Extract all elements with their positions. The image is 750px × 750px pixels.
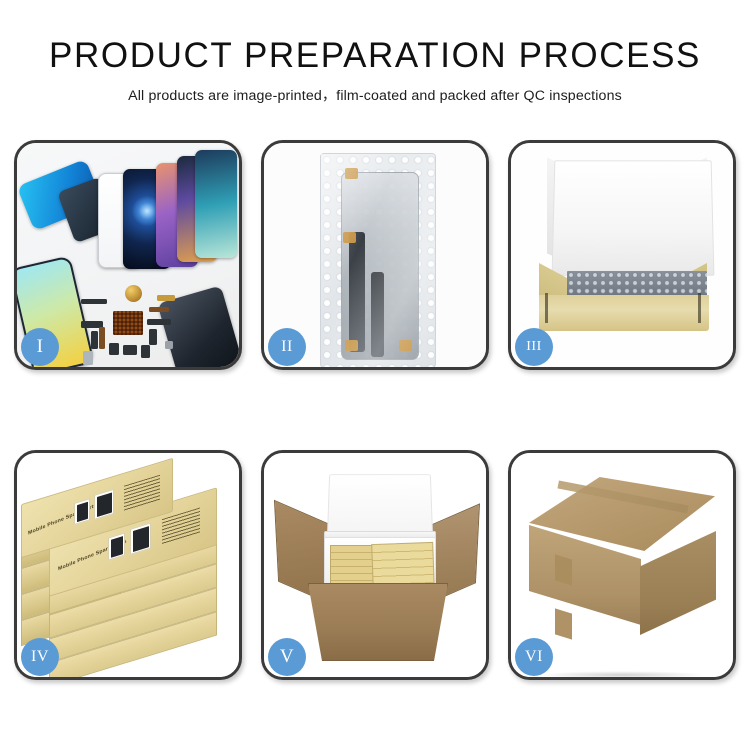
carton-tape-lower [555, 608, 572, 639]
component-flex-1 [99, 327, 105, 349]
step-badge-4: IV [21, 638, 59, 676]
step-badge-3: III [515, 328, 553, 366]
step-panel-6: VI [508, 450, 736, 680]
component-bar-3 [91, 331, 98, 349]
tape-piece-4 [399, 340, 412, 351]
component-grid-board [113, 311, 143, 335]
box-label-spec-lines-1 [124, 475, 160, 511]
bubble-wrapped-contents [567, 271, 707, 297]
component-brown-1 [149, 307, 169, 312]
carton-shadow [538, 671, 707, 677]
flex-cable-2 [371, 272, 384, 357]
component-bar-1 [81, 299, 107, 304]
step-badge-5: V [268, 638, 306, 676]
product-preparation-infographic: PRODUCT PREPARATION PROCESS All products… [0, 0, 750, 750]
box-label-photo-1a [74, 498, 90, 525]
box-lid-white [552, 160, 715, 275]
bubble-wrap-bag [320, 153, 436, 367]
component-bar-8 [141, 345, 150, 358]
tape-piece-3 [345, 340, 358, 351]
carton-body [308, 583, 448, 661]
box-label-photo-1b [94, 489, 114, 520]
step-panel-1: I [14, 140, 242, 370]
box-corner-crease-right [698, 293, 701, 323]
tape-piece-2 [343, 232, 356, 243]
component-bar-6 [109, 343, 119, 355]
step-badge-2: II [268, 328, 306, 366]
step-badge-1: I [21, 328, 59, 366]
box-tray-front [539, 295, 709, 331]
carton-tape-upper [555, 554, 572, 585]
component-gold-1 [157, 295, 175, 301]
flex-cable-1 [349, 232, 365, 352]
component-bar-4 [147, 319, 171, 325]
phone-screen-teal [195, 150, 237, 258]
component-screw-1 [165, 341, 173, 349]
page-subtitle: All products are image-printed，film-coat… [0, 85, 750, 105]
tape-piece-1 [345, 168, 358, 179]
box-stack: Mobile Phone Spare Parts Mobile Phone Sp… [21, 465, 236, 673]
carton-side-face [640, 531, 716, 635]
box-corner-crease-left [545, 293, 548, 323]
step-panel-2: II [261, 140, 489, 370]
small-components-group [79, 283, 189, 367]
step-badge-6: VI [515, 638, 553, 676]
component-sim-tray [83, 351, 93, 365]
page-title: PRODUCT PREPARATION PROCESS [0, 38, 750, 75]
component-bar-5 [149, 329, 157, 345]
step-panel-4: Mobile Phone Spare Parts Mobile Phone Sp… [14, 450, 242, 680]
header: PRODUCT PREPARATION PROCESS All products… [0, 38, 750, 105]
step-panel-3: III [508, 140, 736, 370]
step-panel-5: V [261, 450, 489, 680]
box-label-photo-2a [108, 532, 125, 560]
speaker-module-icon [125, 285, 142, 302]
process-steps-grid: I II [14, 140, 736, 680]
component-bar-7 [123, 345, 137, 355]
foam-box-lid [327, 474, 433, 539]
box-label-photo-2b [130, 522, 151, 554]
